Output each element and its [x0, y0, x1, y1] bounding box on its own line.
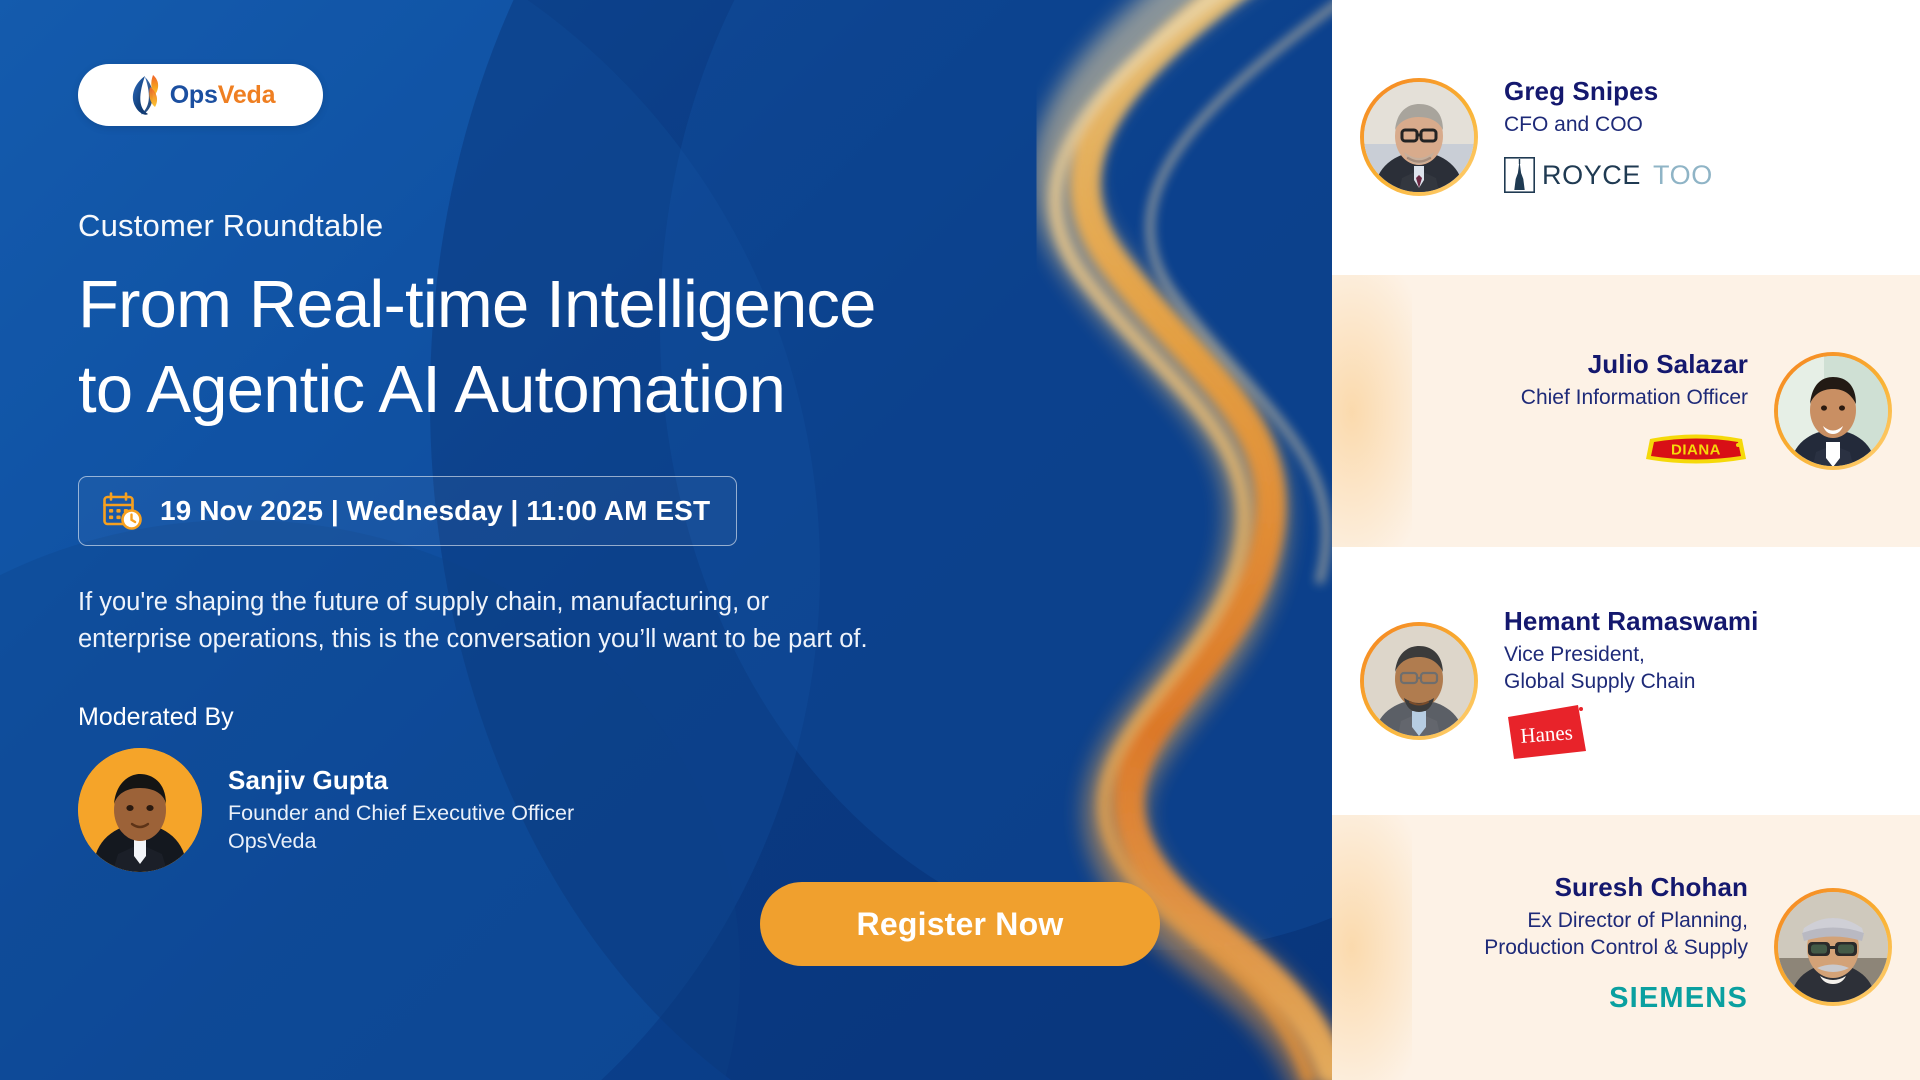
speaker-role-line-2: Production Control & Supply: [1484, 936, 1748, 959]
event-datetime-badge: 19 Nov 2025 | Wednesday | 11:00 AM EST: [78, 476, 737, 546]
speaker-card-hemant-ramaswami[interactable]: Hemant Ramaswami Vice President, Global …: [1332, 547, 1920, 815]
greg-snipes-avatar: [1360, 78, 1478, 196]
siemens-logo: SIEMENS: [1360, 976, 1748, 1022]
julio-salazar-portrait-icon: [1778, 356, 1888, 466]
svg-text:DIANA: DIANA: [1671, 441, 1721, 458]
hemant-ramaswami-avatar: [1360, 622, 1478, 740]
headline-line-2: to Agentic AI Automation: [78, 355, 1088, 424]
logo-text-ops: Ops: [170, 81, 218, 109]
event-description: If you're shaping the future of supply c…: [78, 584, 878, 659]
moderator-role: Founder and Chief Executive Officer: [228, 801, 574, 826]
hemant-ramaswami-portrait-icon: [1364, 626, 1474, 736]
webinar-promo-banner: OpsVeda Customer Roundtable From Real-ti…: [0, 0, 1920, 1080]
speaker-card-greg-snipes[interactable]: Greg Snipes CFO and COO ROYCE TOO: [1332, 0, 1920, 275]
hemant-ramaswami-info: Hemant Ramaswami Vice President, Global …: [1504, 607, 1892, 756]
speaker-name: Hemant Ramaswami: [1504, 607, 1892, 636]
royce-too-logo: ROYCE TOO: [1504, 152, 1892, 198]
suresh-chohan-portrait-icon: [1778, 892, 1888, 1002]
description-line-2: operations, this is the conversation you…: [199, 625, 868, 653]
speaker-role: CFO and COO: [1504, 112, 1892, 139]
hanes-logo-icon: Hanes: [1504, 701, 1590, 763]
hero-panel: OpsVeda Customer Roundtable From Real-ti…: [0, 0, 1332, 1080]
moderator-info: Sanjiv Gupta Founder and Chief Executive…: [228, 765, 574, 854]
royce-spire-icon: [1504, 157, 1535, 193]
greg-snipes-portrait-icon: [1364, 82, 1474, 192]
logo-text-veda: Veda: [218, 81, 276, 109]
opsveda-wordmark: OpsVeda: [170, 81, 276, 110]
moderator-name: Sanjiv Gupta: [228, 765, 574, 796]
opsveda-flame-logo-icon: [126, 73, 164, 117]
hanes-logo: Hanes: [1504, 709, 1892, 755]
suresh-chohan-avatar: [1774, 888, 1892, 1006]
speaker-role: Vice President, Global Supply Chain: [1504, 642, 1892, 696]
moderator-avatar: [78, 748, 202, 872]
speaker-role-line-1: Ex Director of Planning,: [1527, 909, 1748, 932]
speaker-name: Julio Salazar: [1360, 350, 1748, 379]
speaker-role-line-1: Vice President,: [1504, 643, 1645, 666]
opsveda-logo[interactable]: OpsVeda: [78, 64, 323, 126]
moderated-by-label: Moderated By: [78, 703, 1332, 732]
diana-logo: DIANA: [1360, 426, 1748, 472]
suresh-chohan-info: Suresh Chohan Ex Director of Planning, P…: [1360, 873, 1748, 1022]
siemens-wordmark: SIEMENS: [1609, 982, 1748, 1015]
moderator-organization: OpsVeda: [228, 829, 574, 854]
greg-snipes-info: Greg Snipes CFO and COO ROYCE TOO: [1504, 77, 1892, 199]
event-datetime-text: 19 Nov 2025 | Wednesday | 11:00 AM EST: [160, 495, 710, 527]
svg-text:Hanes: Hanes: [1519, 721, 1573, 749]
calendar-clock-icon: [101, 490, 143, 532]
too-word: TOO: [1653, 160, 1713, 191]
speaker-card-julio-salazar[interactable]: Julio Salazar Chief Information Officer …: [1332, 275, 1920, 547]
speaker-name: Suresh Chohan: [1360, 873, 1748, 902]
page-title: From Real-time Intelligence to Agentic A…: [78, 270, 1088, 424]
headline-line-1: From Real-time Intelligence: [78, 267, 876, 342]
speaker-role: Chief Information Officer: [1360, 385, 1748, 412]
speaker-card-suresh-chohan[interactable]: Suresh Chohan Ex Director of Planning, P…: [1332, 815, 1920, 1080]
speaker-name: Greg Snipes: [1504, 77, 1892, 106]
royce-word: ROYCE: [1542, 160, 1641, 191]
speaker-role-line-2: Global Supply Chain: [1504, 670, 1695, 693]
eyebrow-label: Customer Roundtable: [78, 208, 1332, 244]
julio-salazar-info: Julio Salazar Chief Information Officer …: [1360, 350, 1748, 472]
speaker-role: Ex Director of Planning, Production Cont…: [1360, 908, 1748, 962]
diana-logo-icon: DIANA: [1644, 429, 1748, 469]
julio-salazar-avatar: [1774, 352, 1892, 470]
moderator-portrait-icon: [78, 748, 202, 872]
moderator-block: Sanjiv Gupta Founder and Chief Executive…: [78, 748, 1332, 872]
speakers-panel: Greg Snipes CFO and COO ROYCE TOO: [1332, 0, 1920, 1080]
